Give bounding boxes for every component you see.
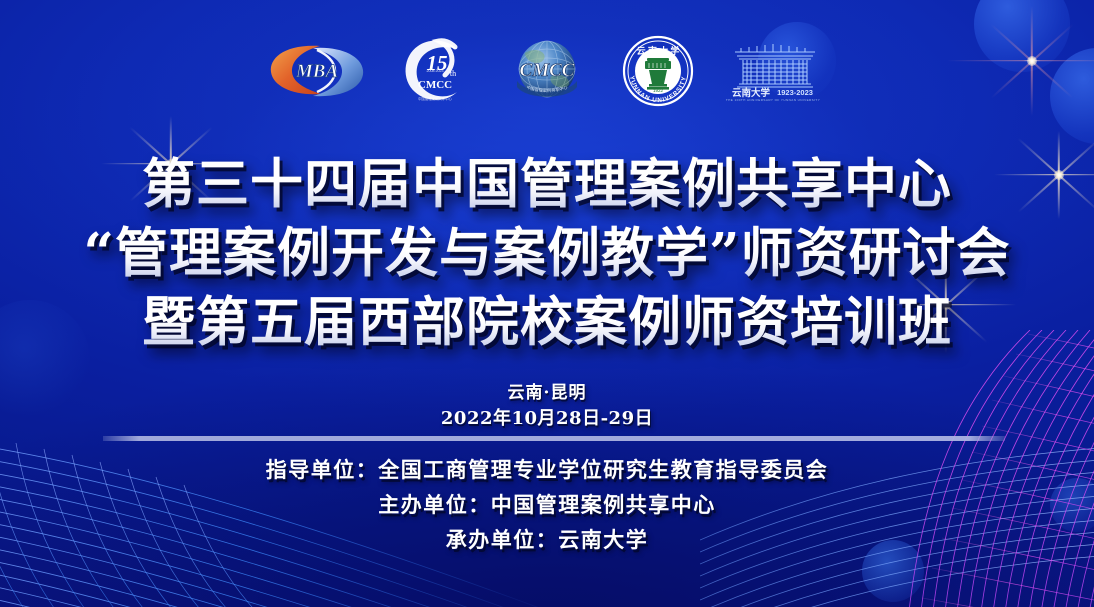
mba-logo: MBA — [265, 40, 369, 107]
title-line-1: 第三十四届中国管理案例共享中心 — [0, 150, 1094, 219]
organizer-block: 指导单位：全国工商管理专业学位研究生教育指导委员会 主办单位：中国管理案例共享中… — [0, 452, 1094, 557]
organizer-host: 主办单位：中国管理案例共享中心 — [0, 487, 1094, 522]
svg-text:1923-2023: 1923-2023 — [777, 88, 813, 97]
svg-text:th: th — [450, 69, 456, 78]
event-date: 2022年10月28日-29日 — [0, 406, 1094, 432]
cmcc-globe-logo: CMCC 中国管理案例共享中心 — [499, 37, 595, 110]
subtitle-block: 云南·昆明 2022年10月28日-29日 — [0, 380, 1094, 432]
logo-row: MBA 15 th 2008 2023 CMCC 中国管理案例共享中心 — [0, 34, 1094, 113]
svg-text:MBA: MBA — [295, 61, 338, 82]
svg-text:云 南 大 学: 云 南 大 学 — [637, 45, 680, 56]
svg-text:THE 100TH ANNIVERSARY OF YUNNA: THE 100TH ANNIVERSARY OF YUNNAN UNIVERSI… — [726, 98, 820, 102]
section-divider — [103, 436, 1005, 441]
svg-text:CMCC: CMCC — [520, 60, 575, 81]
yunnan-university-centennial-logo: 云南大学 1923-2023 THE 100TH ANNIVERSARY OF … — [721, 40, 829, 107]
title-line-3: 暨第五届西部院校案例师资培训班 — [0, 288, 1094, 357]
svg-text:CMCC: CMCC — [418, 79, 452, 91]
conference-banner: MBA 15 th 2008 2023 CMCC 中国管理案例共享中心 — [0, 0, 1094, 607]
svg-text:2008 2023: 2008 2023 — [427, 69, 444, 73]
svg-text:1922: 1922 — [653, 88, 664, 93]
title-block: 第三十四届中国管理案例共享中心 “管理案例开发与案例教学”师资研讨会 暨第五届西… — [0, 150, 1094, 357]
organizer-undertaker: 承办单位：云南大学 — [0, 522, 1094, 557]
title-line-2: “管理案例开发与案例教学”师资研讨会 — [0, 219, 1094, 288]
cmcc-15th-logo: 15 th 2008 2023 CMCC 中国管理案例共享中心 — [395, 36, 473, 111]
yunnan-university-seal: 1922 云 南 大 学 YUNNAN UNIVERSITY — [621, 34, 695, 113]
organizer-guidance: 指导单位：全国工商管理专业学位研究生教育指导委员会 — [0, 452, 1094, 487]
svg-text:中国管理案例共享中心: 中国管理案例共享中心 — [418, 96, 453, 101]
event-location: 云南·昆明 — [0, 380, 1094, 406]
